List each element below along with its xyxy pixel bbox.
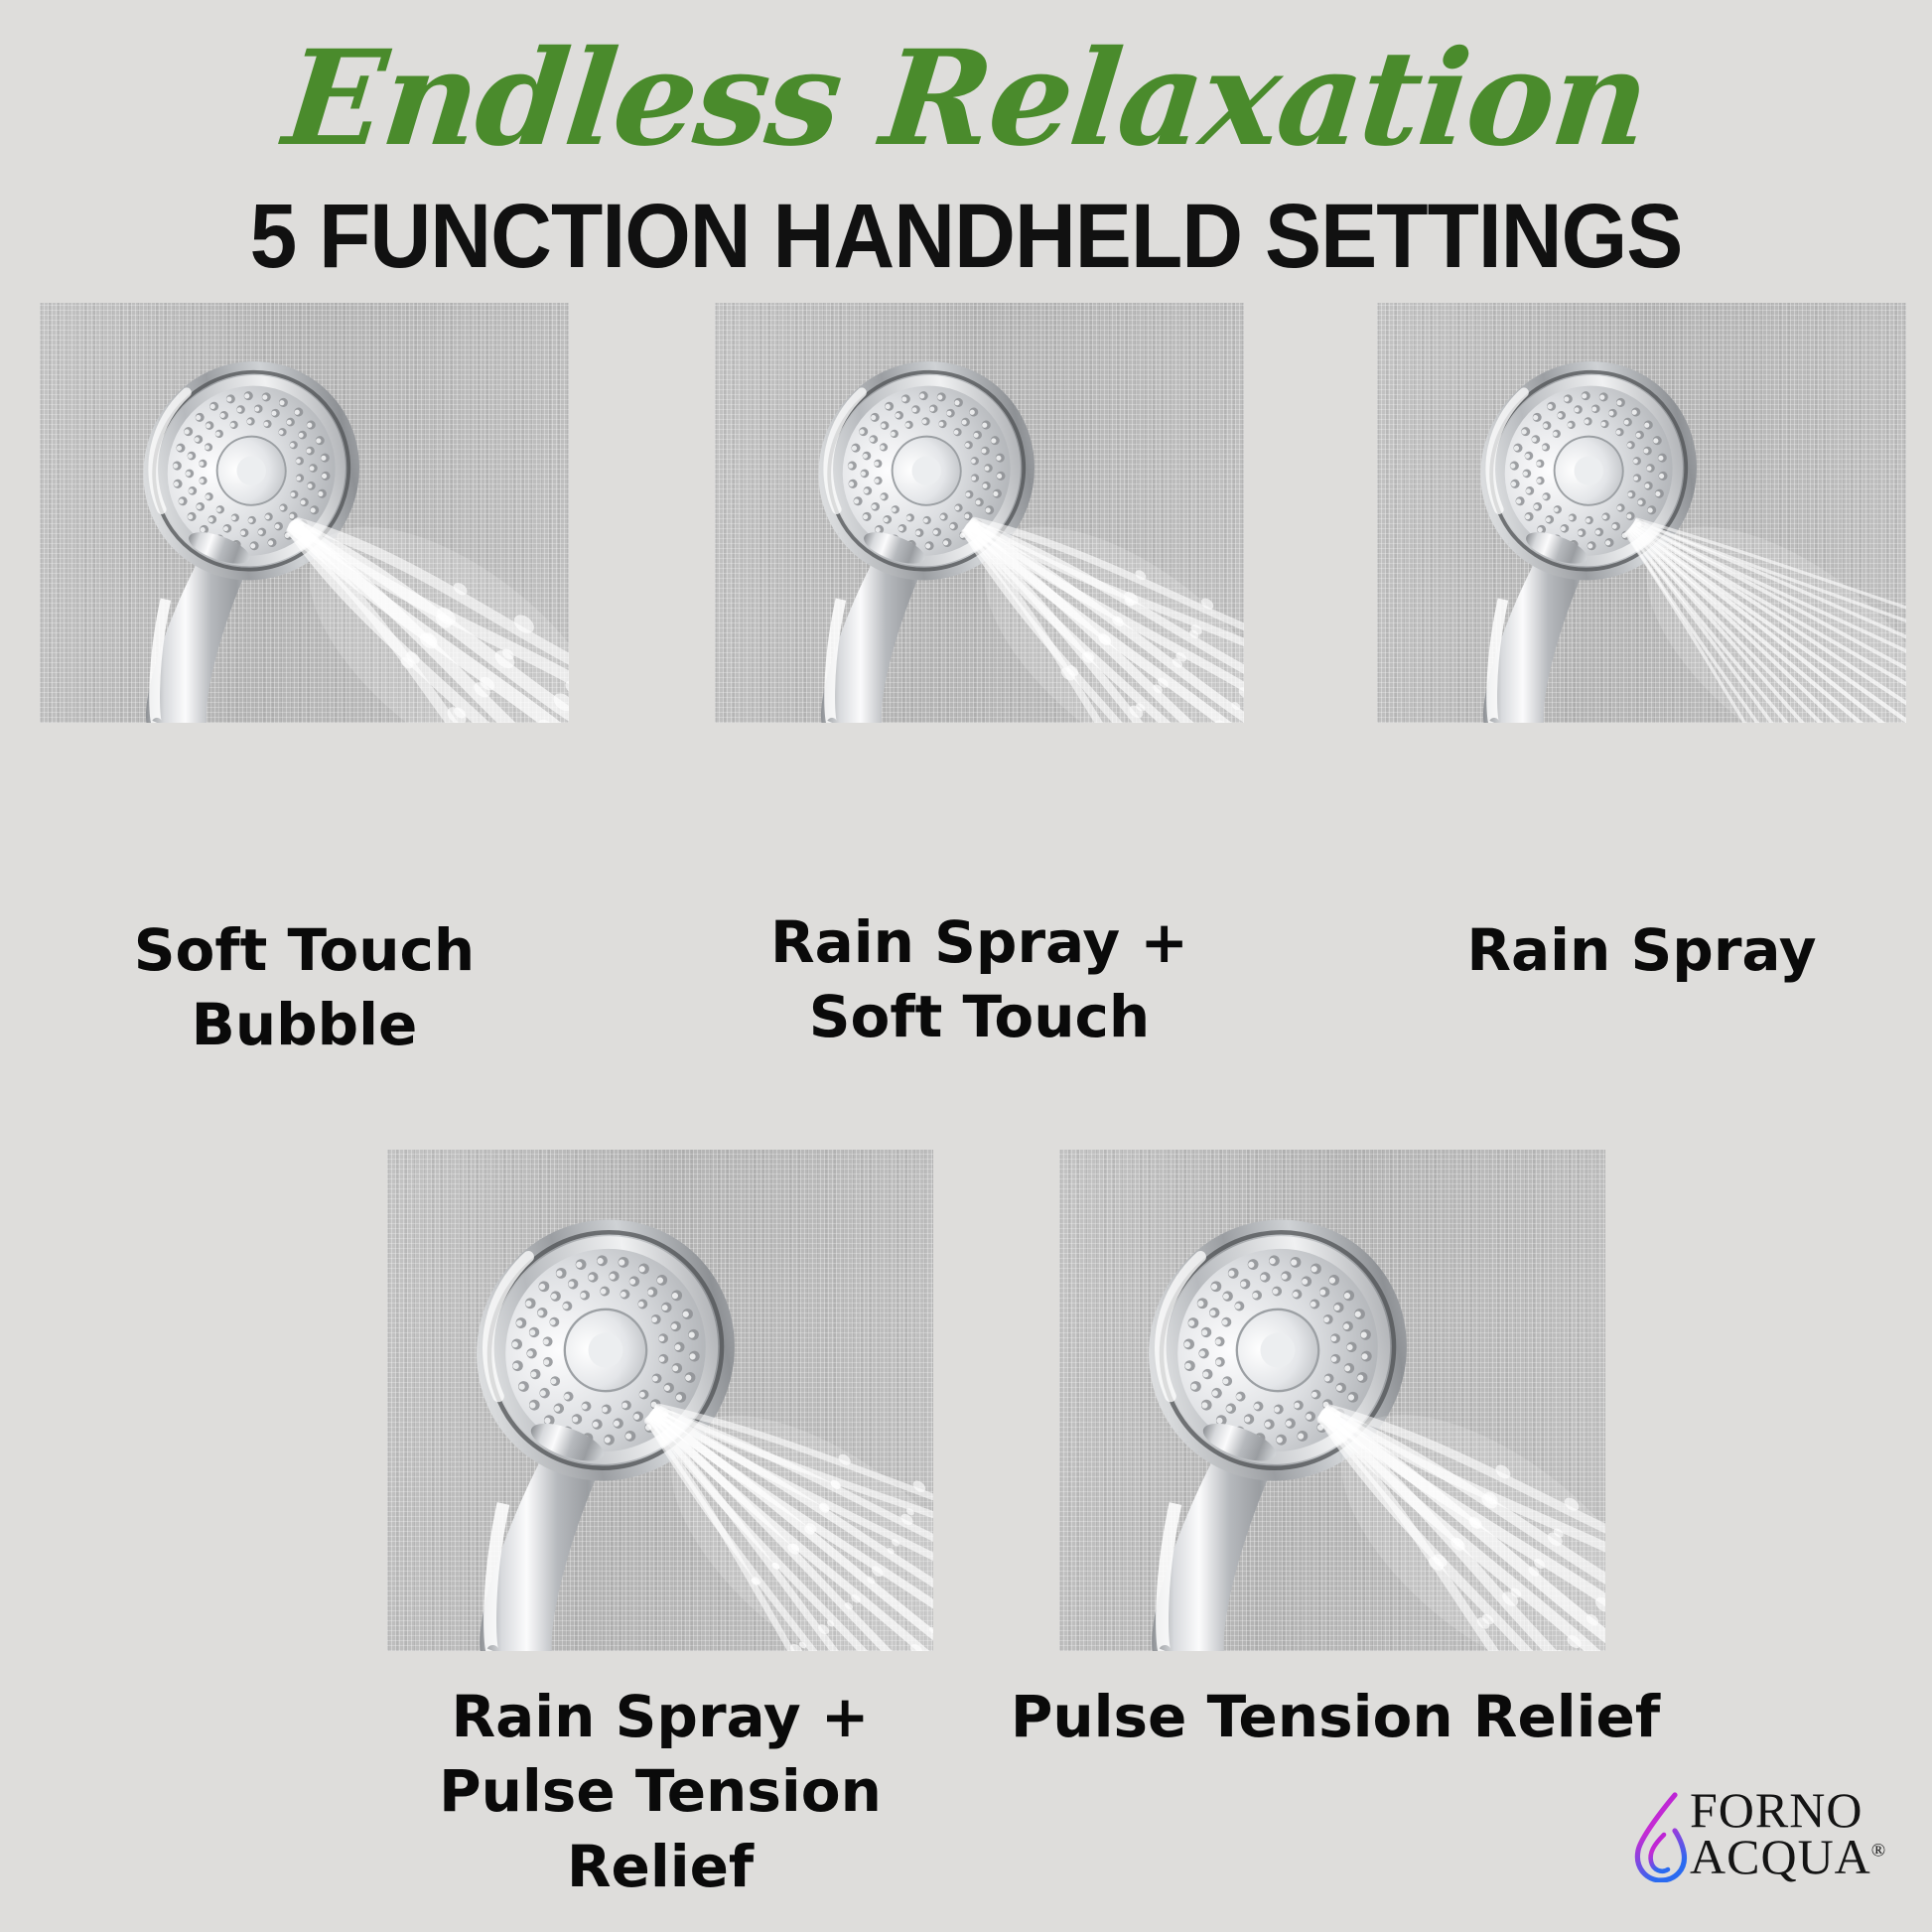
caption-line: Pulse Tension Relief: [347, 1754, 973, 1904]
caption-line: Soft Touch: [695, 980, 1264, 1054]
caption-line: Rain Spray +: [347, 1680, 973, 1754]
brand-line-1: FORNO: [1690, 1787, 1885, 1834]
header: Endless Relaxation 5 FUNCTION HANDHELD S…: [0, 0, 1932, 298]
water-droplet-icon: [1628, 1791, 1694, 1882]
brand-logo: FORNO ACQUA®: [1628, 1787, 1916, 1890]
registered-trademark-icon: ®: [1871, 1840, 1885, 1861]
spray-mode-caption-rain-spray: Rain Spray: [1377, 913, 1906, 988]
caption-line: Soft Touch Bubble: [40, 913, 569, 1063]
brand-line-2: ACQUA: [1690, 1829, 1871, 1884]
brand-wordmark: FORNO ACQUA®: [1690, 1787, 1885, 1879]
spray-mode-caption-rain-spray-plus-soft-touch: Rain Spray +Soft Touch: [695, 905, 1264, 1055]
spray-mode-image-rain-spray-plus-soft-touch: [715, 303, 1244, 723]
spray-mode-image-rain-spray: [1377, 303, 1906, 723]
brand-line-2-wrap: ACQUA®: [1690, 1834, 1885, 1880]
page-title: 5 FUNCTION HANDHELD SETTINGS: [68, 191, 1864, 282]
caption-line: Pulse Tension Relief: [993, 1680, 1678, 1754]
spray-mode-image-pulse-tension-relief: [1059, 1150, 1605, 1651]
spray-mode-caption-pulse-tension-relief: Pulse Tension Relief: [993, 1680, 1678, 1754]
spray-mode-image-rain-spray-plus-pulse-tension-relief: [387, 1150, 933, 1651]
caption-line: Rain Spray +: [695, 905, 1264, 980]
script-title: Endless Relaxation: [0, 34, 1932, 165]
spray-mode-image-soft-touch-bubble: [40, 303, 569, 723]
caption-line: Rain Spray: [1377, 913, 1906, 988]
spray-mode-caption-rain-spray-plus-pulse-tension-relief: Rain Spray +Pulse Tension Relief: [347, 1680, 973, 1904]
spray-mode-caption-soft-touch-bubble: Soft Touch Bubble: [40, 913, 569, 1063]
